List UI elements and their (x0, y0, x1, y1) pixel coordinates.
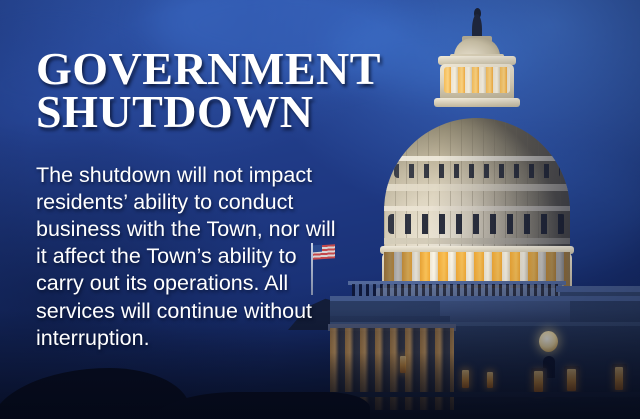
body-line: it affect the Town’s ability to (36, 243, 326, 270)
headline-line-2: SHUTDOWN (36, 90, 456, 133)
body-line: business with the Town, nor will (36, 216, 326, 243)
body-line: carry out its operations. All (36, 270, 326, 297)
page-title: GOVERNMENT SHUTDOWN (36, 47, 456, 133)
body-line: The shutdown will not impact (36, 162, 326, 189)
body-line: services will continue without (36, 298, 326, 325)
text-overlay: GOVERNMENT SHUTDOWN The shutdown will no… (0, 0, 640, 419)
notice-body-text: The shutdown will not impact residents’ … (36, 162, 326, 352)
body-line: interruption. (36, 325, 326, 352)
body-line: residents’ ability to conduct (36, 189, 326, 216)
headline-line-1: GOVERNMENT (36, 47, 456, 90)
government-shutdown-notice-graphic: GOVERNMENT SHUTDOWN The shutdown will no… (0, 0, 640, 419)
